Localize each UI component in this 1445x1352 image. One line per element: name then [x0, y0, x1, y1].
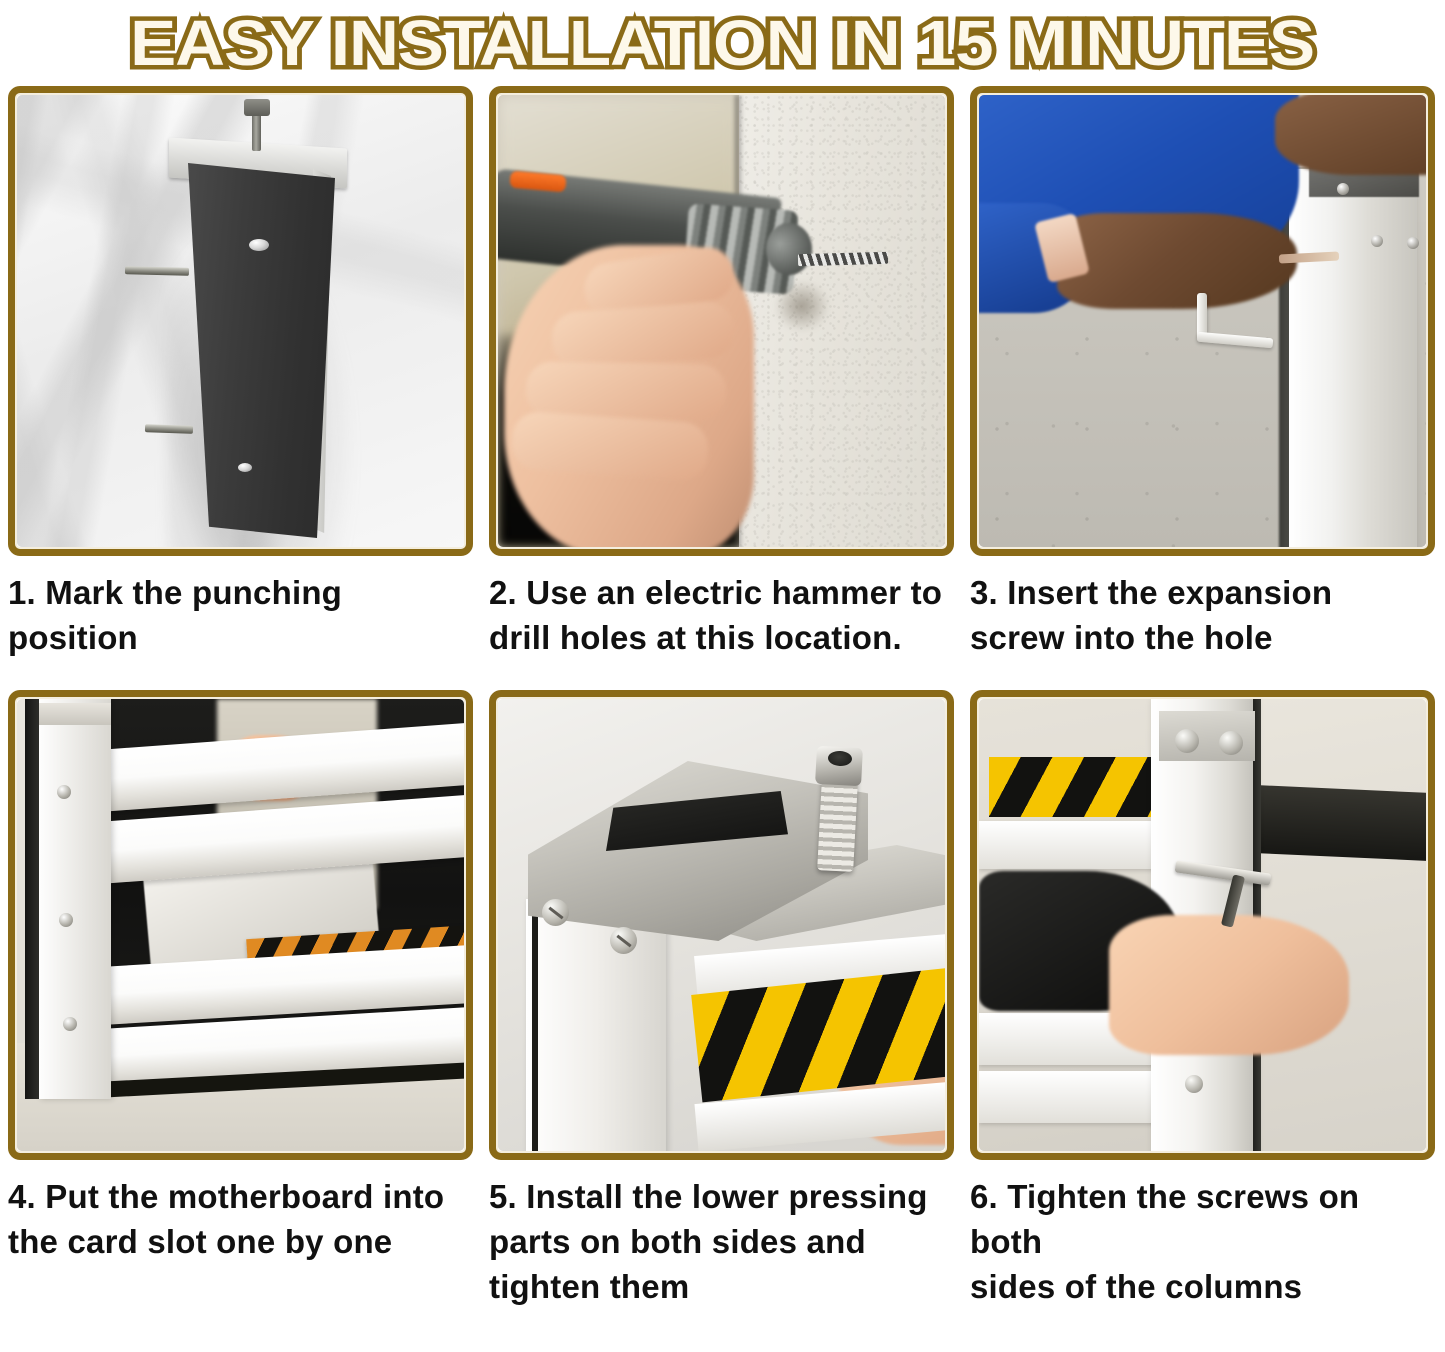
step-card-5: 5. Install the lower pressing parts on b… — [481, 690, 962, 1309]
step-caption-3: 3. Insert the expansion screw into the h… — [970, 570, 1435, 690]
drill-chuck-nose — [766, 223, 812, 275]
step-image-frame-1 — [8, 86, 473, 556]
step-card-3: 3. Insert the expansion screw into the h… — [962, 86, 1443, 690]
step-image-frame-6 — [970, 690, 1435, 1160]
column-top-plate — [39, 703, 111, 725]
dark-tapered-post — [185, 163, 335, 538]
expansion-bolt-lower — [145, 424, 193, 434]
hand-tightening-screw — [1109, 915, 1349, 1055]
phillips-screw-1 — [542, 899, 569, 926]
column-screw-1 — [1337, 183, 1349, 195]
column-screw-2 — [59, 913, 73, 927]
forearm-and-hand — [1057, 213, 1297, 309]
photo-step-4 — [17, 699, 464, 1151]
step-image-frame-2 — [489, 86, 954, 556]
step-card-2: 2. Use an electric hammer to drill holes… — [481, 86, 962, 690]
column-screw-2 — [1371, 235, 1383, 247]
photo-step-2 — [498, 95, 945, 547]
photo-step-5 — [498, 699, 945, 1151]
barrier-board-1 — [979, 821, 1157, 869]
step-caption-6: 6. Tighten the screws on both sides of t… — [970, 1174, 1435, 1309]
finger-3 — [526, 361, 727, 420]
barrier-board-3 — [979, 1071, 1157, 1123]
masonry-drill-bit — [798, 252, 888, 266]
white-column — [526, 899, 666, 1151]
steps-row-top: 1. Mark the punching position — [0, 86, 1445, 690]
hazard-stripe-yellow — [989, 757, 1159, 817]
top-screw-1 — [1175, 729, 1199, 753]
photo-step-3 — [979, 95, 1426, 547]
column-screw-3 — [1407, 237, 1419, 249]
drilling-dust — [774, 280, 830, 332]
phillips-screw-2 — [610, 927, 637, 954]
column-screw-3 — [63, 1017, 77, 1031]
rod-head — [244, 99, 270, 116]
photo-step-6 — [979, 699, 1426, 1151]
column-screw-1 — [57, 785, 71, 799]
textured-wall — [739, 95, 945, 547]
step-caption-4: 4. Put the motherboard into the card slo… — [8, 1174, 473, 1309]
step-image-frame-3 — [970, 86, 1435, 556]
page-title: EASY INSTALLATION IN 15 MINUTES — [131, 11, 1315, 75]
steps-grid: 1. Mark the punching position — [0, 86, 1445, 1309]
steps-row-bottom: 4. Put the motherboard into the card slo… — [0, 690, 1445, 1309]
step-image-frame-5 — [489, 690, 954, 1160]
lower-screw — [1185, 1075, 1203, 1093]
step-caption-5: 5. Install the lower pressing parts on b… — [489, 1174, 954, 1309]
step-card-4: 4. Put the motherboard into the card slo… — [0, 690, 481, 1309]
step-card-6: 6. Tighten the screws on both sides of t… — [962, 690, 1443, 1309]
photo-step-1 — [17, 95, 464, 547]
step-card-1: 1. Mark the punching position — [0, 86, 481, 690]
mounting-hole-upper — [249, 239, 269, 251]
top-screw-2 — [1219, 731, 1243, 755]
mounting-hole-lower — [238, 463, 252, 472]
white-column — [39, 699, 111, 1099]
step-caption-2: 2. Use an electric hammer to drill holes… — [489, 570, 954, 690]
expansion-bolt-upper — [125, 266, 189, 276]
step-image-frame-4 — [8, 690, 473, 1160]
column-seal-strip — [532, 899, 538, 1151]
upper-arm — [1275, 95, 1426, 175]
header-banner: EASY INSTALLATION IN 15 MINUTES — [0, 0, 1445, 86]
step-caption-1: 1. Mark the punching position — [8, 570, 473, 690]
